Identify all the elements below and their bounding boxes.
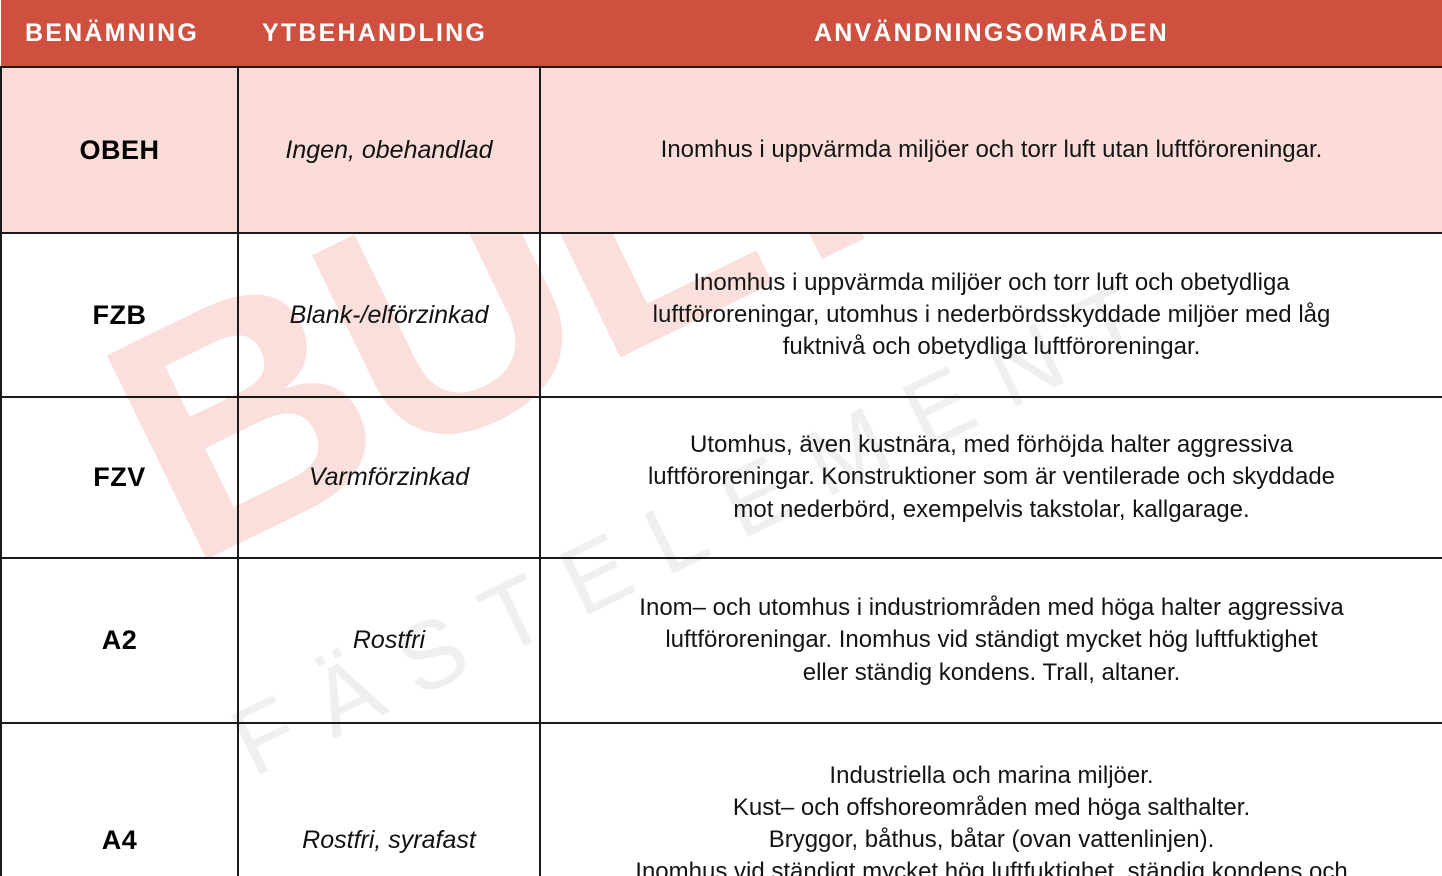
- cell-surface-treatment: Ingen, obehandlad: [238, 67, 540, 233]
- usage-line: luftföroreningar. Konstruktioner som är …: [563, 461, 1420, 493]
- cell-code: OBEH: [1, 67, 238, 233]
- table-body: OBEH Ingen, obehandlad Inomhus i uppvärm…: [1, 67, 1442, 876]
- cell-code: FZB: [1, 233, 238, 397]
- usage-line: Inomhus i uppvärmda miljöer och torr luf…: [563, 134, 1420, 166]
- surface-treatment-table: BENÄMNING YTBEHANDLING ANVÄNDNINGSOMRÅDE…: [0, 0, 1442, 876]
- column-header-anvandningsomraden: ANVÄNDNINGSOMRÅDEN: [540, 0, 1442, 67]
- usage-line: Kust– och offshoreområden med höga salth…: [563, 792, 1420, 824]
- cell-surface-treatment: Rostfri, syrafast: [238, 723, 540, 876]
- cell-code: FZV: [1, 397, 238, 558]
- cell-code: A2: [1, 558, 238, 723]
- table-header-row: BENÄMNING YTBEHANDLING ANVÄNDNINGSOMRÅDE…: [1, 0, 1442, 67]
- surface-treatment-table-container: BENÄMNING YTBEHANDLING ANVÄNDNINGSOMRÅDE…: [0, 0, 1442, 876]
- cell-surface-treatment: Varmförzinkad: [238, 397, 540, 558]
- usage-line: Inomhus vid ständigt mycket hög luftfukt…: [563, 856, 1420, 876]
- cell-usage-areas: Utomhus, även kustnära, med förhöjda hal…: [540, 397, 1442, 558]
- cell-surface-treatment: Blank-/elförzinkad: [238, 233, 540, 397]
- usage-line: luftföroreningar, utomhus i nederbördssk…: [563, 299, 1420, 331]
- table-row: FZV Varmförzinkad Utomhus, även kustnära…: [1, 397, 1442, 558]
- usage-line: fuktnivå och obetydliga luftföroreningar…: [563, 331, 1420, 363]
- table-row: OBEH Ingen, obehandlad Inomhus i uppvärm…: [1, 67, 1442, 233]
- usage-line: Utomhus, även kustnära, med förhöjda hal…: [563, 429, 1420, 461]
- cell-usage-areas: Inomhus i uppvärmda miljöer och torr luf…: [540, 67, 1442, 233]
- usage-line: eller ständig kondens. Trall, altaner.: [563, 657, 1420, 689]
- column-header-ytbehandling: YTBEHANDLING: [238, 0, 540, 67]
- table-header: BENÄMNING YTBEHANDLING ANVÄNDNINGSOMRÅDE…: [1, 0, 1442, 67]
- page-root: BULTAB FÄSTELEMENT BENÄMNING YTBEHANDLIN…: [0, 0, 1442, 876]
- cell-code: A4: [1, 723, 238, 876]
- table-row: FZB Blank-/elförzinkad Inomhus i uppvärm…: [1, 233, 1442, 397]
- table-row: A4 Rostfri, syrafast Industriella och ma…: [1, 723, 1442, 876]
- cell-usage-areas: Industriella och marina miljöer. Kust– o…: [540, 723, 1442, 876]
- cell-surface-treatment: Rostfri: [238, 558, 540, 723]
- cell-usage-areas: Inom– och utomhus i industriområden med …: [540, 558, 1442, 723]
- column-header-benamning: BENÄMNING: [1, 0, 238, 67]
- usage-line: Inomhus i uppvärmda miljöer och torr luf…: [563, 267, 1420, 299]
- usage-line: Industriella och marina miljöer.: [563, 760, 1420, 792]
- usage-line: Inom– och utomhus i industriområden med …: [563, 592, 1420, 624]
- usage-line: mot nederbörd, exempelvis takstolar, kal…: [563, 494, 1420, 526]
- usage-line: Bryggor, båthus, båtar (ovan vattenlinje…: [563, 824, 1420, 856]
- usage-line: luftföroreningar. Inomhus vid ständigt m…: [563, 624, 1420, 656]
- table-row: A2 Rostfri Inom– och utomhus i industrio…: [1, 558, 1442, 723]
- cell-usage-areas: Inomhus i uppvärmda miljöer och torr luf…: [540, 233, 1442, 397]
